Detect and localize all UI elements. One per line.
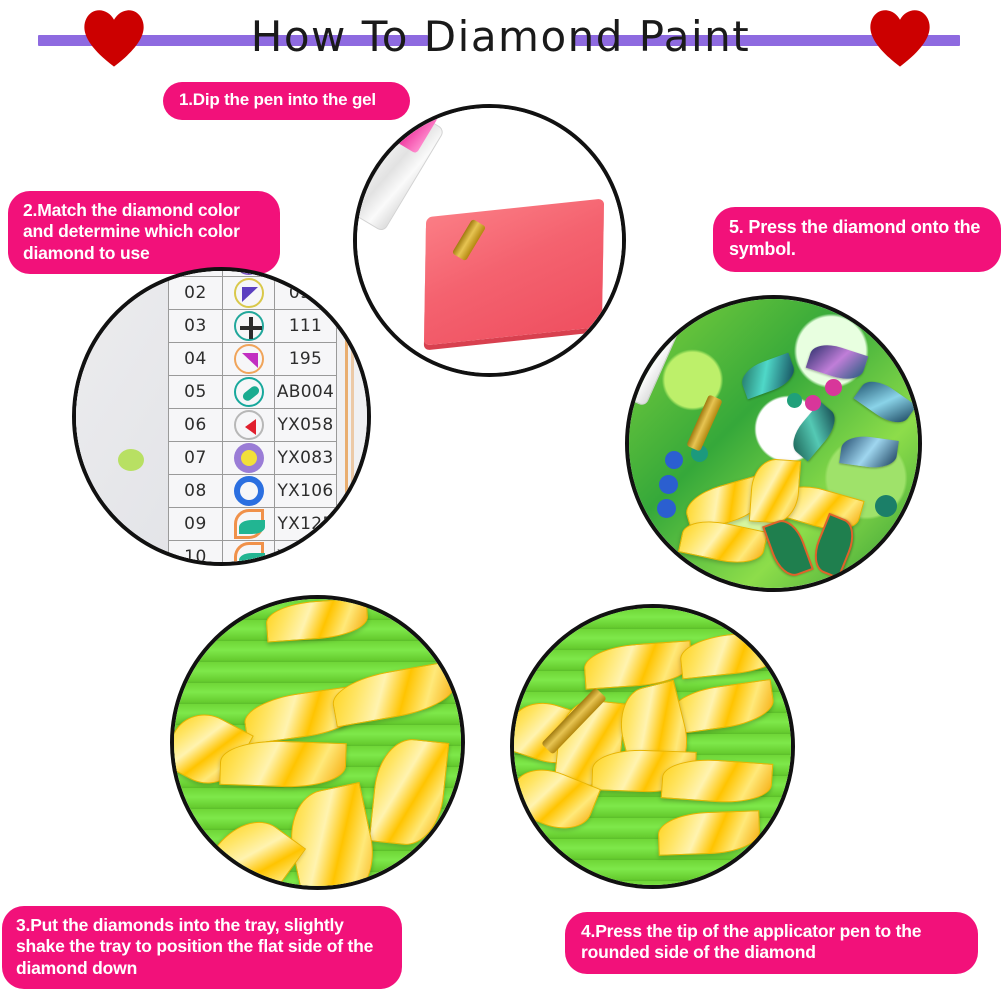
applicator-pen-tip xyxy=(686,394,722,451)
chart-cell-no: 07 xyxy=(169,442,223,475)
chart-cell-code: YX125 xyxy=(275,541,337,567)
chart-cell-symbol xyxy=(223,343,275,376)
yellow-diamond xyxy=(281,782,383,890)
symbol-teal-pill xyxy=(234,377,264,407)
blue-symbol-dot xyxy=(659,475,678,494)
yellow-diamond xyxy=(369,736,450,849)
symbol-blue-ring xyxy=(234,476,264,506)
chart-cell-code: YX058 xyxy=(275,409,337,442)
leaf-symbol xyxy=(762,515,814,581)
chart-cell-code: YX083 xyxy=(275,442,337,475)
chart-margin-line-right xyxy=(345,271,348,562)
chart-cell-symbol xyxy=(223,376,275,409)
yellow-diamond xyxy=(661,756,774,806)
chart-cell-symbol xyxy=(223,442,275,475)
symbol-magenta-triangle xyxy=(234,344,264,374)
color-chart-row: 05AB004 xyxy=(169,376,337,409)
chart-cell-no: 10 xyxy=(169,541,223,567)
symbol-teal-leaf xyxy=(234,542,264,566)
color-chart-row: 07YX083 xyxy=(169,442,337,475)
photo-press-diamond-on-symbol xyxy=(625,295,922,592)
header-banner: How To Diamond Paint xyxy=(0,0,1001,72)
yellow-diamond xyxy=(678,629,788,680)
ab-gem xyxy=(806,339,869,385)
chart-cell-code: YX106 xyxy=(275,475,337,508)
canvas-blob-green xyxy=(118,449,144,471)
yellow-diamond xyxy=(219,739,347,789)
press-photo-inner xyxy=(629,299,918,588)
chart-cell-code: 111 xyxy=(275,310,337,343)
blue-symbol-dot xyxy=(665,451,683,469)
chart-margin-line-right-2 xyxy=(351,271,354,562)
step-3-label: 3.Put the diamonds into the tray, slight… xyxy=(2,906,402,989)
chart-photo-inner: 0102802093031110419505AB00406YX05807YX08… xyxy=(76,271,367,562)
chart-cell-no: 09 xyxy=(169,508,223,541)
chart-cell-no: 06 xyxy=(169,409,223,442)
step-4-label: 4.Press the tip of the applicator pen to… xyxy=(565,912,978,974)
photo-dip-pen-into-gel xyxy=(353,104,626,377)
chart-cell-no: 05 xyxy=(169,376,223,409)
chart-cell-no: 02 xyxy=(169,277,223,310)
photo-diamonds-in-tray xyxy=(170,595,465,890)
chart-cell-no: 08 xyxy=(169,475,223,508)
chart-cell-code: AB004 xyxy=(275,376,337,409)
color-chart-row: 09YX125 xyxy=(169,508,337,541)
ab-gem xyxy=(737,353,798,400)
color-chart-row: 08YX106 xyxy=(169,475,337,508)
step-2-label: 2.Match the diamond color and determine … xyxy=(8,191,280,274)
color-chart-row: 03111 xyxy=(169,310,337,343)
chart-cell-symbol xyxy=(223,277,275,310)
color-chart-row: 02093 xyxy=(169,277,337,310)
symbol-red-chevron-left xyxy=(234,410,264,440)
chart-cell-code: 195 xyxy=(275,343,337,376)
canvas-edge xyxy=(76,271,168,562)
pink-symbol-dot xyxy=(825,379,842,396)
chart-cell-symbol xyxy=(223,475,275,508)
applicator-pen-body xyxy=(625,296,688,407)
ab-gem xyxy=(839,433,899,471)
yellow-diamond xyxy=(678,515,768,570)
chart-cell-code: 028 xyxy=(275,267,337,277)
symbol-purple-triangle xyxy=(234,278,264,308)
chart-cell-symbol xyxy=(223,541,275,567)
chart-cell-symbol xyxy=(223,508,275,541)
color-chart-row: 06YX058 xyxy=(169,409,337,442)
chart-cell-code: 093 xyxy=(275,277,337,310)
yellow-diamond xyxy=(657,810,760,856)
photo-pen-picks-diamond xyxy=(510,604,795,889)
page-title: How To Diamond Paint xyxy=(0,8,1001,66)
gel-photo-inner xyxy=(357,108,622,373)
photo-color-chart: 0102802093031110419505AB00406YX05807YX08… xyxy=(72,267,371,566)
chart-cell-symbol xyxy=(223,310,275,343)
yellow-diamond xyxy=(583,640,694,689)
tray-photo-inner xyxy=(174,599,461,886)
color-chart-row: 10YX125 xyxy=(169,541,337,567)
yellow-diamond xyxy=(329,661,459,728)
ab-gem xyxy=(853,374,916,431)
symbol-plus-cross xyxy=(234,311,264,341)
step-5-label: 5. Press the diamond onto the symbol. xyxy=(713,207,1001,272)
green-symbol-dot xyxy=(875,495,897,517)
yellow-diamond xyxy=(184,805,306,890)
gel-pad xyxy=(424,198,604,345)
chart-cell-code: YX125 xyxy=(275,508,337,541)
chart-cell-no: 03 xyxy=(169,310,223,343)
chart-cell-symbol xyxy=(223,409,275,442)
applicator-pen-body xyxy=(510,606,547,691)
blue-symbol-dot xyxy=(657,499,676,518)
pink-symbol-dot xyxy=(805,395,821,411)
symbol-yellow-dot-purple-ring xyxy=(234,443,264,473)
chart-cell-no: 04 xyxy=(169,343,223,376)
color-chart-row: 04195 xyxy=(169,343,337,376)
pickup-photo-inner xyxy=(514,608,791,885)
color-chart-table: 0102802093031110419505AB00406YX05807YX08… xyxy=(168,267,337,566)
green-symbol-dot xyxy=(787,393,802,408)
yellow-diamond xyxy=(265,597,369,642)
symbol-teal-leaf xyxy=(234,509,264,539)
